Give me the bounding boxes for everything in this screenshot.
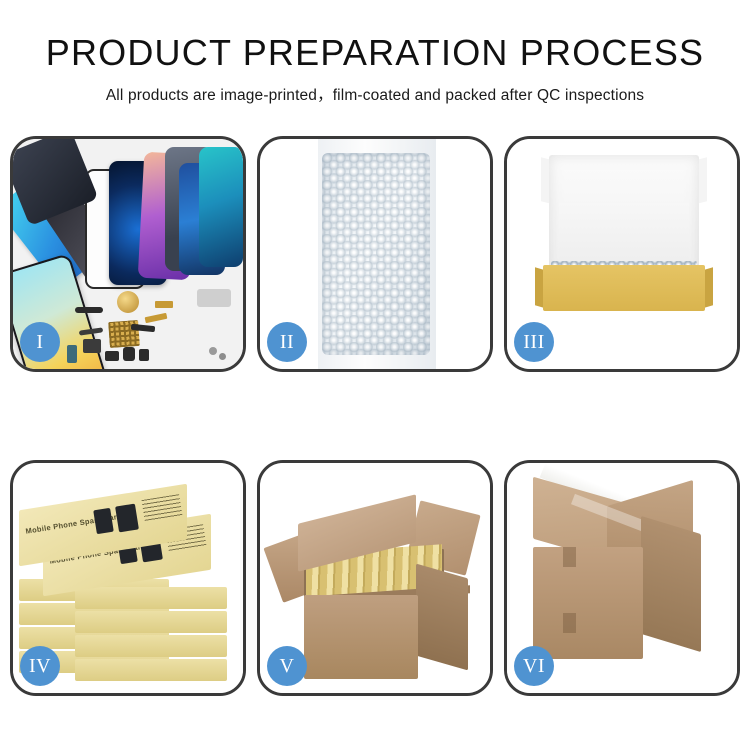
process-grid: I II III: [10, 136, 740, 696]
step-badge-6: VI: [514, 646, 554, 686]
carton-seam-mark: [563, 547, 576, 567]
bubble-wrap-icon: [322, 153, 430, 355]
stacked-box: [75, 587, 227, 609]
screw-part: [209, 347, 217, 355]
screw-part: [219, 353, 226, 360]
box-label-product-image: [115, 504, 139, 533]
step-panel-6[interactable]: VI: [504, 460, 740, 696]
step-badge-4: IV: [20, 646, 60, 686]
speaker-part: [123, 347, 135, 361]
stacked-box: [75, 635, 227, 657]
ic-chip-part: [105, 351, 119, 361]
battery-connector-part: [67, 345, 77, 363]
page-subtitle: All products are image-printed，film-coat…: [0, 83, 750, 105]
step-badge-1: I: [20, 322, 60, 362]
box-white-lid: [549, 155, 699, 273]
carton-front-face: [533, 547, 643, 659]
phone-teal-gradient: [199, 147, 243, 267]
carton-seam-mark: [563, 613, 576, 633]
carton-side-face: [416, 564, 468, 671]
step-badge-5: V: [267, 646, 307, 686]
step-badge-3: III: [514, 322, 554, 362]
step-panel-5[interactable]: V: [257, 460, 493, 696]
flex-cable-part: [75, 307, 103, 313]
step-panel-2[interactable]: II: [257, 136, 493, 372]
vibration-motor-icon: [117, 291, 139, 313]
step-panel-3[interactable]: III: [504, 136, 740, 372]
step-panel-4[interactable]: Mobile Phone Spare Parts Mobile Phone Sp…: [10, 460, 246, 696]
stacked-box: [75, 659, 227, 681]
carton-front-face: [304, 595, 418, 679]
gold-contact-part: [145, 313, 168, 323]
header: PRODUCT PREPARATION PROCESS All products…: [0, 0, 750, 105]
camera-module-part: [139, 349, 149, 361]
stacked-box: [75, 611, 227, 633]
step-panel-1[interactable]: I: [10, 136, 246, 372]
gold-contact-part: [155, 301, 173, 308]
step-badge-2: II: [267, 322, 307, 362]
box-kraft-body: [543, 265, 705, 311]
tool-kit-part: [197, 289, 231, 307]
small-module-part: [83, 339, 101, 353]
box-label-product-image: [93, 508, 114, 534]
page-title: PRODUCT PREPARATION PROCESS: [0, 34, 750, 72]
carton-side-face: [641, 516, 701, 652]
